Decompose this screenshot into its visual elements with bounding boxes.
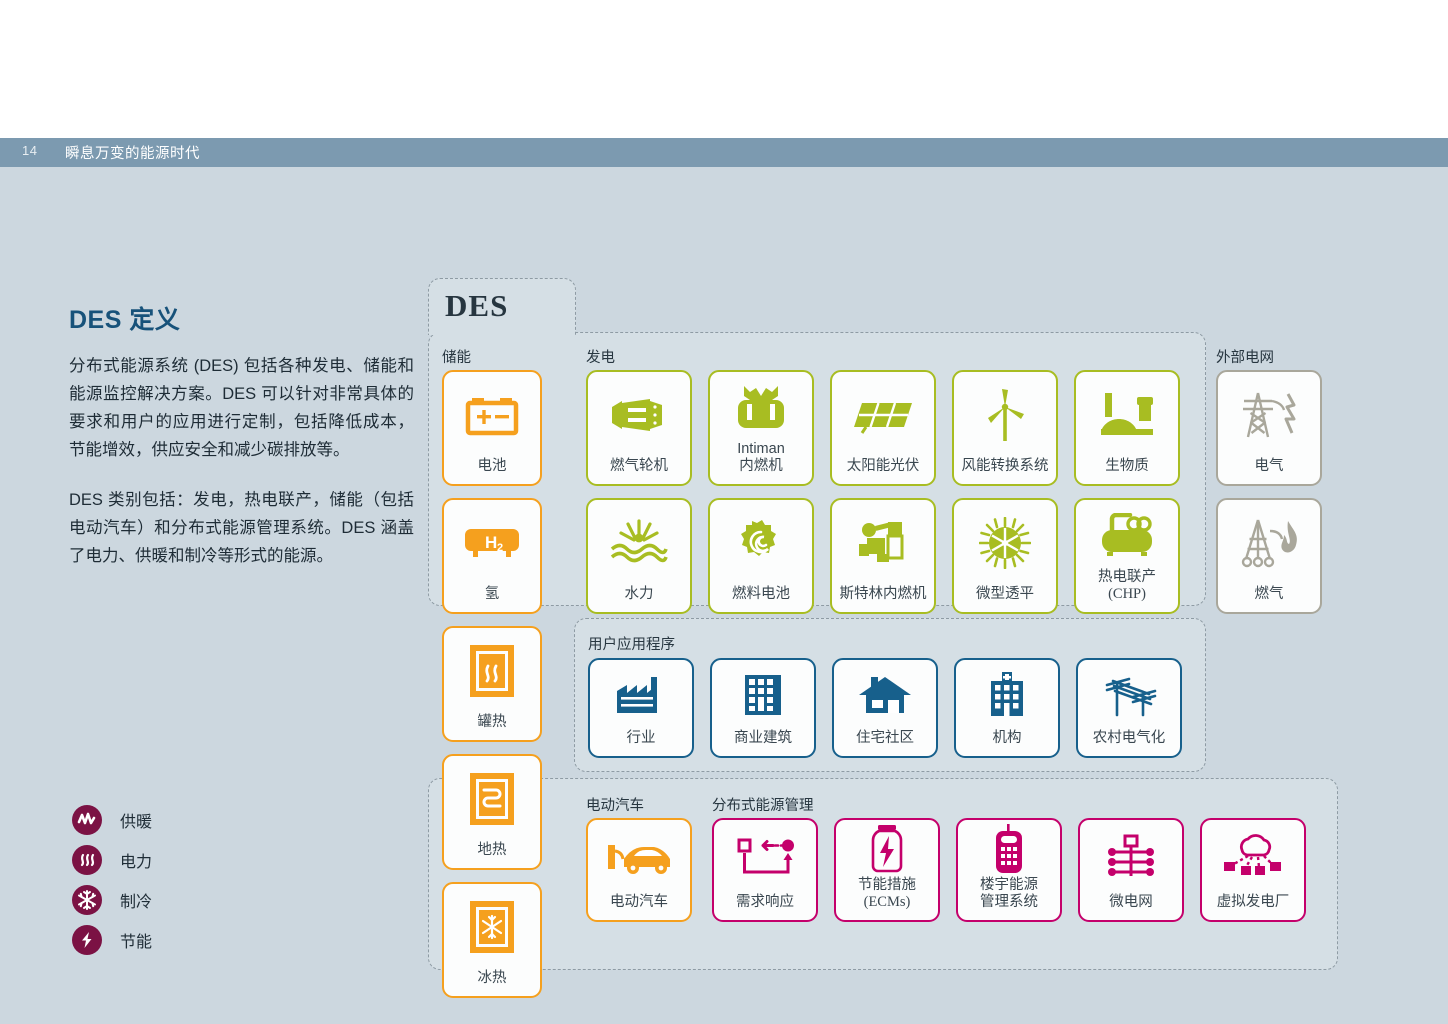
card-chp[interactable]: 热电联产(CHP) <box>1074 498 1180 614</box>
card-electric-vehicle[interactable]: 电动汽车 <box>586 818 692 922</box>
legend-item-heating: 供暖 <box>72 800 152 840</box>
office-building-icon <box>712 660 814 730</box>
card-wind-turbine[interactable]: 风能转换系统 <box>952 370 1058 486</box>
factory-icon <box>590 660 692 730</box>
card-residential[interactable]: 住宅社区 <box>832 658 938 758</box>
biomass-icon <box>1076 372 1178 458</box>
card-intiman-engine[interactable]: Intiman内燃机 <box>708 370 814 486</box>
wind-turbine-icon <box>954 372 1056 458</box>
card-label: 行业 <box>627 730 656 756</box>
card-gas-grid[interactable]: 燃气 <box>1216 498 1322 614</box>
card-institution[interactable]: 机构 <box>954 658 1060 758</box>
card-label: 氢 <box>485 586 500 612</box>
des-tab-label: DES <box>445 288 508 324</box>
card-fuel-cell[interactable]: 燃料电池 <box>708 498 814 614</box>
card-label: 燃气轮机 <box>610 458 668 484</box>
card-label: Intiman内燃机 <box>737 441 785 484</box>
card-label: 燃气 <box>1255 586 1284 612</box>
svg-text:2: 2 <box>497 542 503 554</box>
card-battery[interactable]: 电池 <box>442 370 542 486</box>
group-label-dem: 分布式能源管理 <box>712 794 814 815</box>
card-label: 微型透平 <box>976 586 1034 612</box>
header-title: 瞬息万变的能源时代 <box>65 142 200 163</box>
page-number: 14 <box>22 143 37 158</box>
card-geothermal[interactable]: 地热 <box>442 754 542 870</box>
geothermal-icon <box>444 756 540 842</box>
rural-power-icon <box>1078 660 1180 730</box>
body-paragraph-2: DES 类别包括：发电，热电联产，储能（包括电动汽车）和分布式能源管理系统。DE… <box>69 486 414 570</box>
card-hydrogen[interactable]: H 2 氢 <box>442 498 542 614</box>
card-ice-cold[interactable]: 冰热 <box>442 882 542 998</box>
card-bems[interactable]: 楼宇能源管理系统 <box>956 818 1062 922</box>
card-label: 需求响应 <box>736 894 794 920</box>
card-solar-pv[interactable]: 太阳能光伏 <box>830 370 936 486</box>
card-label: 风能转换系统 <box>962 458 1049 484</box>
institution-icon <box>956 660 1058 730</box>
card-label: 住宅社区 <box>856 730 914 756</box>
microgrid-icon <box>1080 820 1182 894</box>
intiman-engine-icon <box>710 372 812 441</box>
legend-item-power: 电力 <box>72 840 152 880</box>
card-microgrid[interactable]: 微电网 <box>1078 818 1184 922</box>
header-bar <box>0 138 1448 167</box>
gas-flame-icon <box>1218 500 1320 586</box>
card-stirling-engine[interactable]: 斯特林内燃机 <box>830 498 936 614</box>
cooling-icon <box>72 885 102 915</box>
body-paragraph-1: 分布式能源系统 (DES) 包括各种发电、储能和能源监控解决方案。DES 可以针… <box>69 352 414 464</box>
des-tab: DES <box>428 278 576 335</box>
group-label-user-apps: 用户应用程序 <box>588 633 675 654</box>
card-label: 节能措施(ECMs) <box>858 877 916 920</box>
card-label: 机构 <box>993 730 1022 756</box>
electric-car-icon <box>588 820 690 894</box>
card-label: 太阳能光伏 <box>847 458 920 484</box>
card-label: 罐热 <box>478 714 507 740</box>
demand-response-icon <box>714 820 816 894</box>
hydro-icon <box>588 500 690 586</box>
ecm-jar-icon <box>836 820 938 877</box>
des-diagram: DES 储能 发电 外部电网 用户应用程序 电动汽车 分布式能源管理 电池 H … <box>428 278 1338 970</box>
card-label: 电气 <box>1255 458 1284 484</box>
virtual-plant-icon <box>1202 820 1304 894</box>
card-label: 地热 <box>478 842 507 868</box>
chp-icon <box>1076 500 1178 569</box>
bems-phone-icon <box>958 820 1060 877</box>
card-label: 热电联产(CHP) <box>1098 569 1156 612</box>
card-label: 微电网 <box>1109 894 1153 920</box>
solar-pv-icon <box>832 372 934 458</box>
card-virtual-power-plant[interactable]: 虚拟发电厂 <box>1200 818 1306 922</box>
card-electric-grid[interactable]: 电气 <box>1216 370 1322 486</box>
group-label-external-grid: 外部电网 <box>1216 346 1274 367</box>
stirling-engine-icon <box>832 500 934 586</box>
heating-icon <box>72 805 102 835</box>
card-gas-turbine[interactable]: 燃气轮机 <box>586 370 692 486</box>
ice-cold-icon <box>444 884 540 970</box>
pylon-icon <box>1218 372 1320 458</box>
battery-icon <box>444 372 540 458</box>
group-label-storage: 储能 <box>442 346 471 367</box>
card-tank-heat[interactable]: 罐热 <box>442 626 542 742</box>
card-label: 电动汽车 <box>610 894 668 920</box>
card-label: 斯特林内燃机 <box>840 586 927 612</box>
card-label: 生物质 <box>1105 458 1149 484</box>
card-label: 水力 <box>625 586 654 612</box>
tank-heat-icon <box>444 628 540 714</box>
legend-label: 节能 <box>120 928 152 952</box>
card-label: 农村电气化 <box>1093 730 1166 756</box>
card-label: 楼宇能源管理系统 <box>980 877 1038 920</box>
group-label-ev: 电动汽车 <box>586 794 644 815</box>
fuel-cell-icon <box>710 500 812 586</box>
card-label: 燃料电池 <box>732 586 790 612</box>
card-hydro[interactable]: 水力 <box>586 498 692 614</box>
legend-label: 供暖 <box>120 808 152 832</box>
card-industry[interactable]: 行业 <box>588 658 694 758</box>
card-micro-turbine[interactable]: 微型透平 <box>952 498 1058 614</box>
micro-turbine-icon <box>954 500 1056 586</box>
card-label: 冰热 <box>478 970 507 996</box>
house-icon <box>834 660 936 730</box>
card-label: 虚拟发电厂 <box>1217 894 1290 920</box>
legend-item-energy-saving: 节能 <box>72 920 152 960</box>
power-icon <box>72 845 102 875</box>
legend-item-cooling: 制冷 <box>72 880 152 920</box>
card-commercial-building[interactable]: 商业建筑 <box>710 658 816 758</box>
card-ecm[interactable]: 节能措施(ECMs) <box>834 818 940 922</box>
energy-saving-icon <box>72 925 102 955</box>
gas-turbine-icon <box>588 372 690 458</box>
svg-text:H: H <box>485 533 497 552</box>
legend-label: 制冷 <box>120 888 152 912</box>
hydrogen-icon: H 2 <box>444 500 540 586</box>
group-label-generation: 发电 <box>586 346 615 367</box>
card-demand-response[interactable]: 需求响应 <box>712 818 818 922</box>
card-label: 商业建筑 <box>734 730 792 756</box>
legend-label: 电力 <box>120 848 152 872</box>
card-biomass[interactable]: 生物质 <box>1074 370 1180 486</box>
legend: 供暖 电力 制冷 <box>72 800 152 960</box>
left-text-column: DES 定义 分布式能源系统 (DES) 包括各种发电、储能和能源监控解决方案。… <box>69 300 414 592</box>
card-label: 电池 <box>478 458 507 484</box>
page-title: DES 定义 <box>69 300 414 336</box>
card-rural-electrification[interactable]: 农村电气化 <box>1076 658 1182 758</box>
